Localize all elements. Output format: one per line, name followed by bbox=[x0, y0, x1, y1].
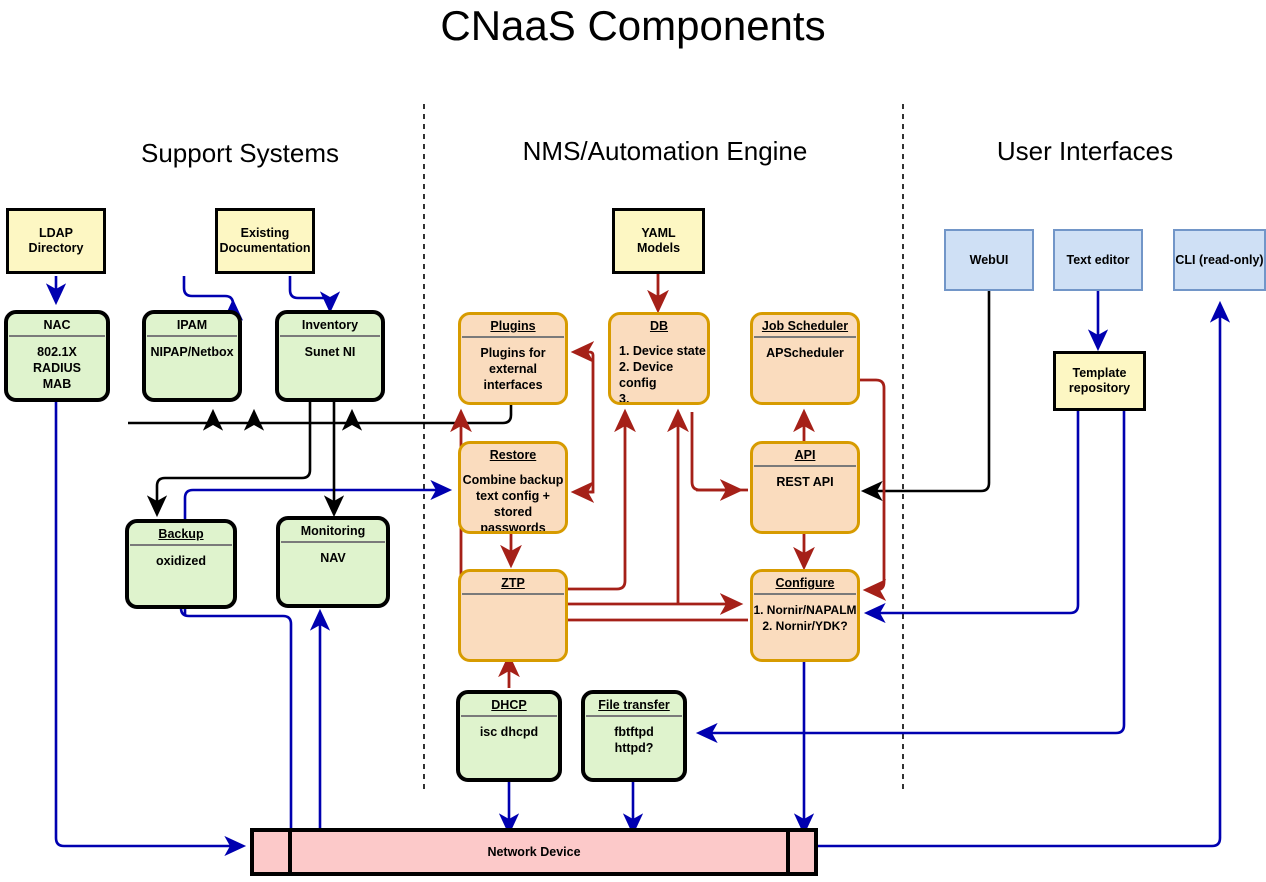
node-body: 1. Nornir/NAPALM 2. Nornir/YDK? bbox=[753, 595, 857, 659]
node-template-repository[interactable]: Template repository bbox=[1053, 351, 1146, 411]
node-header: Restore bbox=[461, 444, 565, 465]
node-monitoring[interactable]: Monitoring NAV bbox=[276, 516, 390, 608]
node-nac[interactable]: NAC 802.1X RADIUS MAB bbox=[4, 310, 110, 402]
wire-db-leg bbox=[589, 430, 593, 492]
node-body: 1. Device state 2. Device config 3. Rela… bbox=[611, 336, 707, 405]
node-label: LDAP Directory bbox=[29, 226, 84, 256]
node-webui[interactable]: WebUI bbox=[944, 229, 1034, 291]
node-ipam[interactable]: IPAM NIPAP/Netbox bbox=[142, 310, 242, 402]
node-inventory[interactable]: Inventory Sunet NI bbox=[275, 310, 385, 402]
node-dhcp[interactable]: DHCP isc dhcpd bbox=[456, 690, 562, 782]
wire-doc-to-inventory bbox=[290, 276, 330, 310]
node-body: oxidized bbox=[129, 546, 233, 605]
network-device-port-left bbox=[288, 832, 292, 872]
node-body: isc dhcpd bbox=[460, 717, 558, 778]
node-header: Backup bbox=[129, 523, 233, 544]
node-header: DHCP bbox=[460, 694, 558, 715]
wire-doc-to-ipam bbox=[184, 276, 233, 304]
section-header-nms: NMS/Automation Engine bbox=[430, 136, 900, 167]
diagram-canvas: CNaaS Components Support Systems NMS/Aut… bbox=[0, 0, 1266, 882]
node-label: Text editor bbox=[1067, 253, 1130, 268]
page-title: CNaaS Components bbox=[0, 2, 1266, 50]
node-ldap-directory[interactable]: LDAP Directory bbox=[6, 208, 106, 274]
node-header: Configure bbox=[753, 572, 857, 593]
section-label: User Interfaces bbox=[997, 136, 1173, 166]
node-body: REST API bbox=[753, 467, 857, 531]
node-header: NAC bbox=[8, 314, 106, 335]
section-header-ui: User Interfaces bbox=[910, 136, 1260, 167]
node-configure[interactable]: Configure 1. Nornir/NAPALM 2. Nornir/YDK… bbox=[750, 569, 860, 662]
node-header: API bbox=[753, 444, 857, 465]
node-header: Monitoring bbox=[280, 520, 386, 541]
node-label: CLI (read-only) bbox=[1175, 253, 1263, 268]
wire-jobscheduler-to-configure bbox=[860, 380, 884, 590]
section-label: Support Systems bbox=[141, 138, 339, 168]
node-body bbox=[461, 595, 565, 659]
section-header-support: Support Systems bbox=[60, 138, 420, 169]
wire-plugins-bus bbox=[352, 405, 511, 423]
wire-networkdevice-to-cli bbox=[818, 304, 1220, 846]
node-body: APScheduler bbox=[753, 338, 857, 402]
node-text-editor[interactable]: Text editor bbox=[1053, 229, 1143, 291]
node-ztp[interactable]: ZTP bbox=[458, 569, 568, 662]
wire-inventory-to-backup bbox=[157, 402, 310, 514]
node-body: 802.1X RADIUS MAB bbox=[8, 337, 106, 398]
node-label: Network Device bbox=[487, 845, 580, 859]
node-yaml-models[interactable]: YAML Models bbox=[612, 208, 705, 274]
node-db[interactable]: DB 1. Device state 2. Device config 3. R… bbox=[608, 312, 710, 405]
node-header: Job Scheduler bbox=[753, 315, 857, 336]
wire-db-to-plugins bbox=[574, 352, 593, 430]
node-body: Sunet NI bbox=[279, 337, 381, 398]
node-header: ZTP bbox=[461, 572, 565, 593]
network-device-port-right bbox=[786, 832, 790, 872]
wire-api-db-path bbox=[692, 412, 748, 490]
node-body: Combine backup text config + stored pass… bbox=[461, 465, 565, 534]
node-restore[interactable]: Restore Combine backup text config + sto… bbox=[458, 441, 568, 534]
node-api[interactable]: API REST API bbox=[750, 441, 860, 534]
node-plugins[interactable]: Plugins Plugins for external interfaces bbox=[458, 312, 568, 405]
node-backup[interactable]: Backup oxidized bbox=[125, 519, 237, 609]
node-cli[interactable]: CLI (read-only) bbox=[1173, 229, 1266, 291]
node-body: Plugins for external interfaces bbox=[461, 338, 565, 402]
node-label: Template repository bbox=[1069, 366, 1130, 396]
wire-templaterepo-to-configure bbox=[867, 411, 1078, 613]
node-label: YAML Models bbox=[637, 226, 680, 256]
node-network-device[interactable]: Network Device bbox=[250, 828, 818, 876]
node-body: NIPAP/Netbox bbox=[146, 337, 238, 398]
node-header: DB bbox=[611, 315, 707, 336]
node-header: Inventory bbox=[279, 314, 381, 335]
wire-nac-to-networkdevice bbox=[56, 402, 243, 846]
node-label: WebUI bbox=[970, 253, 1009, 268]
section-label: NMS/Automation Engine bbox=[523, 136, 808, 166]
node-file-transfer[interactable]: File transfer fbtftpd httpd? bbox=[581, 690, 687, 782]
node-label: Existing Documentation bbox=[220, 226, 311, 256]
node-body: fbtftpd httpd? bbox=[585, 717, 683, 778]
node-existing-documentation[interactable]: Existing Documentation bbox=[215, 208, 315, 274]
node-job-scheduler[interactable]: Job Scheduler APScheduler bbox=[750, 312, 860, 405]
node-header: IPAM bbox=[146, 314, 238, 335]
node-header: File transfer bbox=[585, 694, 683, 715]
node-header: Plugins bbox=[461, 315, 565, 336]
wire-ztp-to-db bbox=[568, 412, 625, 589]
node-body: NAV bbox=[280, 543, 386, 604]
